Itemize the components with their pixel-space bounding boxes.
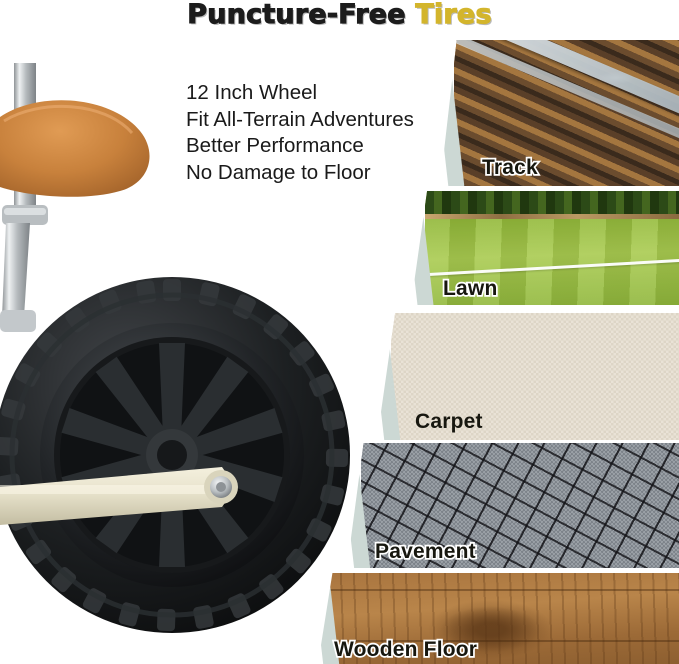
title-primary-text: Puncture-Free — [187, 0, 415, 30]
page-title: Puncture-Free Tires — [0, 0, 679, 37]
terrain-panel-track[interactable]: Track — [440, 40, 679, 186]
terrain-panel-pavement[interactable]: Pavement — [347, 443, 679, 568]
terrain-panel-carpet[interactable]: Carpet — [377, 313, 679, 440]
wheel — [0, 277, 350, 633]
terrain-label-carpet: Carpet — [415, 410, 483, 434]
terrain-label-lawn: Lawn — [443, 277, 497, 301]
saddle — [0, 100, 150, 197]
terrain-label-pavement: Pavement — [375, 540, 476, 564]
terrain-label-track: Track — [482, 156, 538, 180]
terrain-label-wooden-floor: Wooden Floor — [334, 638, 477, 662]
balance-bike-wheel-image — [0, 55, 352, 664]
terrain-panel-wooden-floor[interactable]: Wooden Floor — [318, 573, 679, 664]
terrain-panel-stack: Track Lawn Carpet Pavement Wooden Floor — [318, 40, 679, 664]
terrain-panel-lawn[interactable]: Lawn — [411, 191, 679, 305]
title-accent-text: Tires — [415, 0, 491, 30]
